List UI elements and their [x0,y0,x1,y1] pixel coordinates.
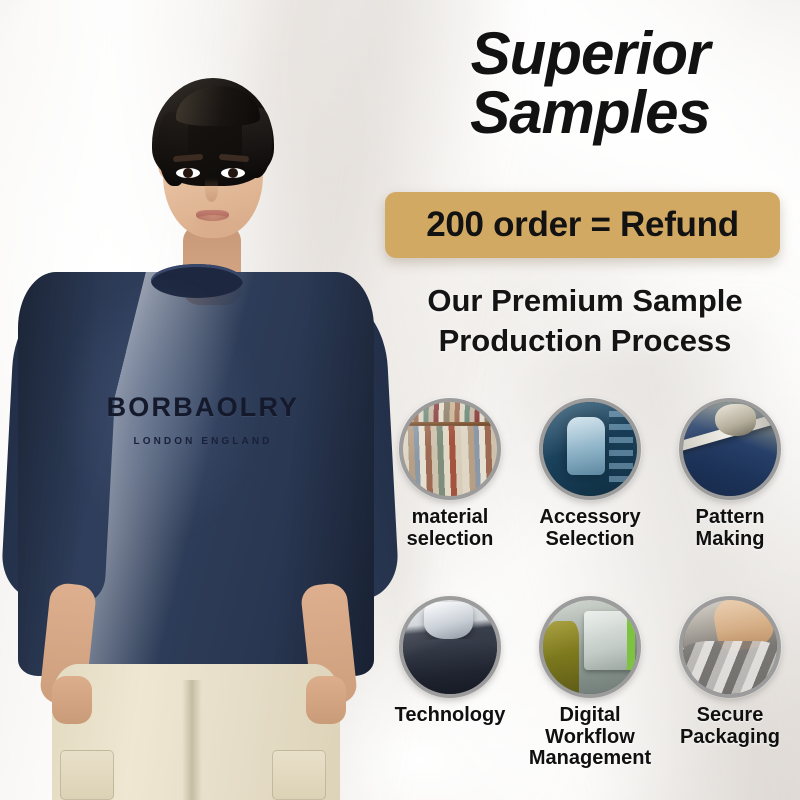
process-row-2: Technology Digital Workflow Management [380,596,800,770]
workflow-screen-icon [539,596,641,698]
label-line-3: Management [529,748,651,770]
label-line-2: Making [696,529,765,551]
headline-line-2: Samples [385,83,795,142]
subheadline: Our Premium Sample Production Process [385,281,785,360]
label-line-1: Digital [529,705,651,727]
model-hand-left [52,676,92,724]
refund-offer-text: 200 order = Refund [426,205,739,245]
process-step-label: Secure Packaging [680,705,780,748]
cargo-pocket-right [272,750,326,800]
subheadline-line-2: Production Process [385,321,785,361]
label-line-2: Workflow [529,727,651,749]
label-line-1: Technology [395,705,506,727]
process-step-label: Digital Workflow Management [529,705,651,770]
headline: Superior Samples [385,24,795,143]
label-line-1: material [407,507,494,529]
packaging-hands-icon [679,596,781,698]
model-hand-right [306,676,346,724]
process-step-label: Pattern Making [696,507,765,550]
process-row-1: material selection Accessory Selection [380,398,800,550]
process-step-material-selection: material selection [380,398,520,550]
process-step-label: material selection [407,507,494,550]
process-step-secure-packaging: Secure Packaging [660,596,800,770]
process-step-technology: Technology [380,596,520,770]
refund-offer-badge: 200 order = Refund [385,192,780,258]
cargo-pocket-left [60,750,114,800]
label-line-1: Secure [680,705,780,727]
label-line-1: Accessory [539,507,640,529]
pattern-cutting-icon [679,398,781,500]
tshirt-logo-text: BORBAOLRY [96,394,310,421]
process-step-label: Technology [395,705,506,727]
label-line-2: Selection [539,529,640,551]
garment-display-icon [539,398,641,500]
model-eye-right [221,168,245,178]
fabric-rolls-icon [399,398,501,500]
model-eye-left [176,168,200,178]
label-line-2: Packaging [680,727,780,749]
process-step-pattern-making: Pattern Making [660,398,800,550]
process-step-digital-workflow-management: Digital Workflow Management [520,596,660,770]
model-chin [186,215,240,239]
process-step-accessory-selection: Accessory Selection [520,398,660,550]
label-line-1: Pattern [696,507,765,529]
process-step-label: Accessory Selection [539,507,640,550]
promo-banner: BORBAOLRY LONDON ENGLAND Superior Sample… [0,0,800,800]
subheadline-line-1: Our Premium Sample [427,283,742,318]
promo-text-panel: Superior Samples 200 order = Refund Our … [380,0,800,800]
model-nose [205,178,218,202]
headline-line-1: Superior [471,20,710,87]
model-photo: BORBAOLRY LONDON ENGLAND [0,0,400,800]
tshirt-logo-subtext: LONDON ENGLAND [96,436,310,447]
label-line-2: selection [407,529,494,551]
sewing-machine-icon [399,596,501,698]
